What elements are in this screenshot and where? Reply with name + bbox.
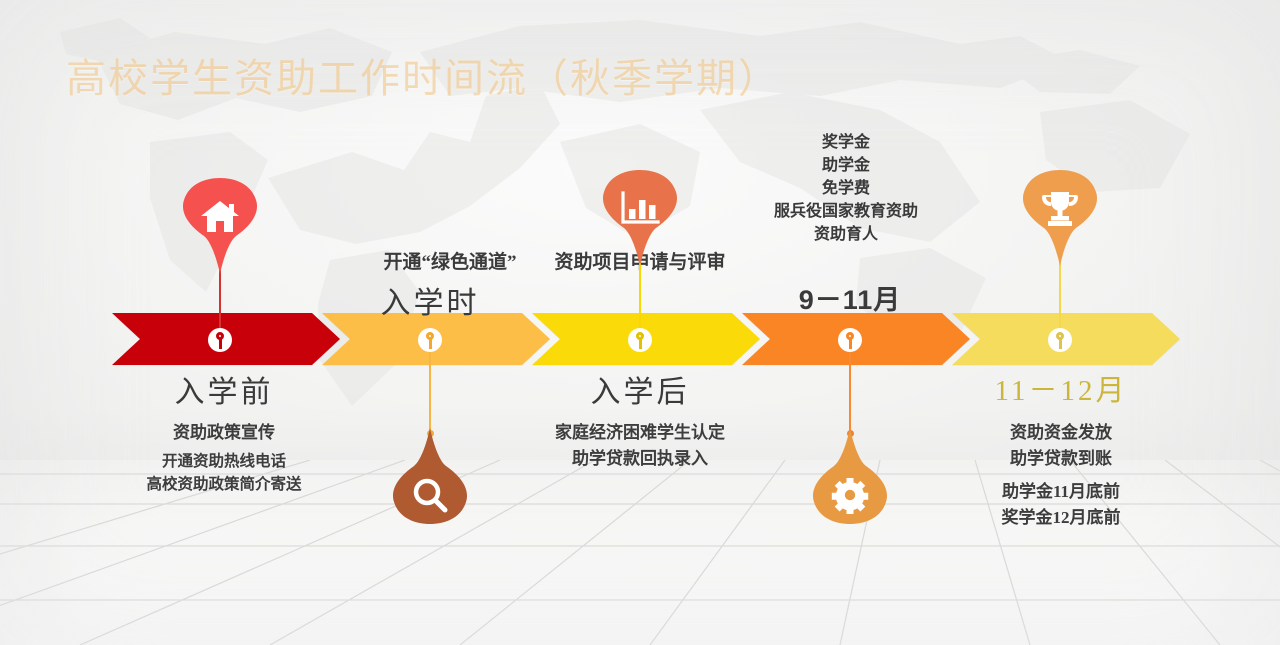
slide-canvas: 高校学生资助工作时间流（秋季学期） bbox=[0, 0, 1280, 645]
timeline-node-stage-5[interactable] bbox=[1048, 328, 1072, 352]
pin-stage-3-bar-chart[interactable] bbox=[598, 170, 682, 266]
stage-5-detail-0: 资助资金发放 bbox=[966, 420, 1156, 446]
stage-1-detail-0: 资助政策宣传 bbox=[124, 420, 324, 446]
trophy-icon bbox=[1018, 170, 1102, 248]
pin-stage-5-trophy[interactable] bbox=[1018, 170, 1102, 266]
pin-stage-1-home[interactable] bbox=[178, 178, 262, 274]
stage-4-name: 9－11月 bbox=[750, 278, 950, 317]
timeline-node-stage-4[interactable] bbox=[838, 328, 862, 352]
timeline-node-stage-1[interactable] bbox=[208, 328, 232, 352]
stage-3-detail-0: 家庭经济困难学生认定 bbox=[520, 420, 760, 446]
stage-5-detail-small-0: 助学金11月底前 bbox=[966, 479, 1156, 505]
stage-3-detail-1: 助学贷款回执录入 bbox=[520, 446, 760, 472]
stage-5-detail-1: 助学贷款到账 bbox=[966, 446, 1156, 472]
stage-4-bullet-4: 资助育人 bbox=[736, 223, 956, 246]
stage-4-bullet-2: 免学费 bbox=[736, 177, 956, 200]
stage-5-detail-small-1: 奖学金12月底前 bbox=[966, 505, 1156, 531]
stage-4-bullet-3: 服兵役国家教育资助 bbox=[736, 200, 956, 223]
stage-1-name: 入学前 bbox=[124, 367, 324, 411]
stage-1-detail-small-0: 开通资助热线电话 bbox=[114, 450, 334, 474]
bar-chart-icon bbox=[598, 170, 682, 248]
pin-stage-4-gear[interactable] bbox=[808, 428, 892, 524]
connector-stage-2 bbox=[429, 348, 431, 434]
search-icon bbox=[388, 456, 472, 534]
connector-stage-4 bbox=[849, 348, 851, 434]
stage-1-detail-small-1: 高校资助政策简介寄送 bbox=[104, 473, 344, 497]
pin-stage-2-search[interactable] bbox=[388, 428, 472, 524]
stage-5-name: 11－12月 bbox=[966, 367, 1156, 409]
stage-3-name: 入学后 bbox=[540, 367, 740, 411]
stage-4-bullet-0: 奖学金 bbox=[736, 131, 956, 154]
timeline: 入学前 资助政策宣传 开通资助热线电话 高校资助政策简介寄送 开通“绿色通道” … bbox=[0, 0, 1280, 645]
timeline-node-stage-3[interactable] bbox=[628, 328, 652, 352]
stage-4-bullet-1: 助学金 bbox=[736, 154, 956, 177]
home-icon bbox=[178, 178, 262, 256]
timeline-node-stage-2[interactable] bbox=[418, 328, 442, 352]
stage-2-name: 入学时 bbox=[330, 278, 530, 322]
gear-icon bbox=[808, 456, 892, 534]
